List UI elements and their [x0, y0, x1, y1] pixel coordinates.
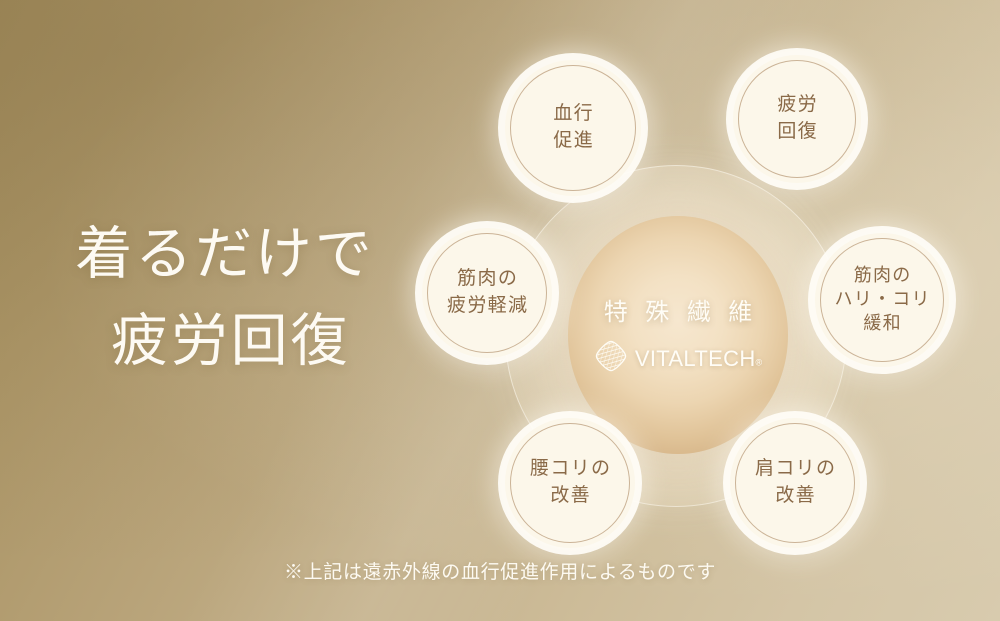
bubble-shoulder-improvement[interactable]: 肩コリの改善	[730, 418, 860, 548]
bubble-label-line: 改善	[529, 483, 612, 510]
bubble-label: 疲労回復	[776, 92, 818, 146]
center-label-group: 特 殊 繊 維	[568, 216, 788, 454]
bubble-label-line: 肩コリの	[754, 456, 837, 483]
bubble-label: 筋肉のハリ・コリ緩和	[833, 264, 931, 335]
vitaltech-logo: VITALTECH®	[594, 339, 762, 378]
bubble-label-line: ハリ・コリ	[833, 288, 931, 312]
registered-mark: ®	[756, 357, 763, 367]
vitaltech-name: VITALTECH	[635, 346, 756, 371]
bubble-muscle-fatigue-relief[interactable]: 筋肉の疲労軽減	[422, 228, 552, 358]
headline-line-1: 着るだけで	[60, 212, 390, 299]
promo-banner: 着るだけで 疲労回復 特 殊 繊 維	[0, 0, 1000, 621]
bubble-blood-circulation[interactable]: 血行促進	[505, 60, 641, 196]
bubble-label-line: 緩和	[833, 312, 931, 336]
benefits-diagram: 特 殊 繊 維	[400, 30, 1000, 560]
bubble-label-line: 筋肉の	[446, 266, 529, 293]
bubble-lower-back-improvement[interactable]: 腰コリの改善	[505, 418, 635, 548]
bubble-muscle-stiffness-relief[interactable]: 筋肉のハリ・コリ緩和	[815, 233, 949, 367]
bubble-label-line: 血行	[552, 101, 594, 128]
headline: 着るだけで 疲労回復	[60, 212, 390, 385]
headline-line-2: 疲労回復	[60, 299, 390, 386]
bubble-label-line: 疲労	[776, 92, 818, 119]
bubble-label-line: 疲労軽減	[446, 293, 529, 320]
bubble-fatigue-recovery[interactable]: 疲労回復	[733, 55, 861, 183]
bubble-label-line: 改善	[754, 483, 837, 510]
bubble-label: 腰コリの改善	[529, 456, 612, 510]
bubble-label-line: 促進	[552, 128, 594, 155]
bubble-label: 血行促進	[552, 101, 594, 155]
center-title: 特 殊 繊 維	[598, 292, 758, 327]
bubble-label: 肩コリの改善	[754, 456, 837, 510]
bubble-label-line: 回復	[776, 119, 818, 146]
bubble-label: 筋肉の疲労軽減	[446, 266, 529, 320]
footnote: ※上記は遠赤外線の血行促進作用によるものです	[0, 557, 1000, 584]
vitaltech-wordmark: VITALTECH®	[635, 346, 762, 372]
bubble-label-line: 筋肉の	[833, 264, 931, 288]
bubble-label-line: 腰コリの	[529, 456, 612, 483]
woven-diamond-icon	[594, 339, 628, 378]
